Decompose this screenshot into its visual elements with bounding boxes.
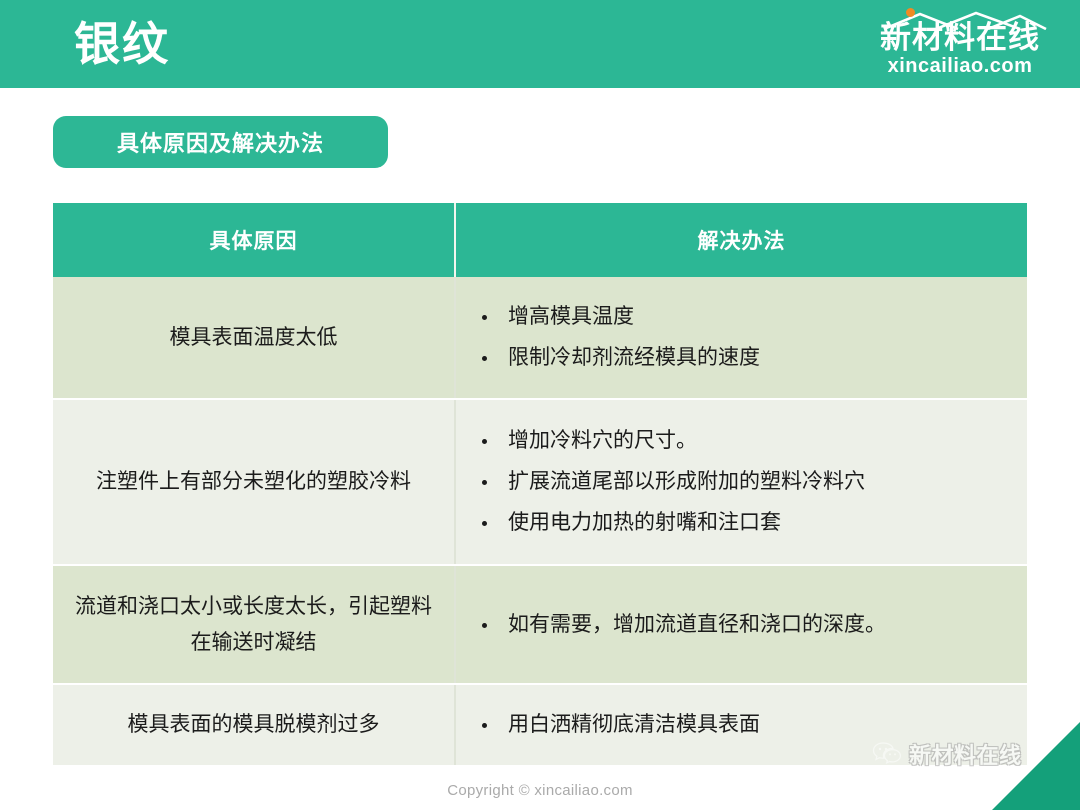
list-item: 使用电力加热的射嘴和注口套 (474, 508, 1007, 538)
list-item: 如有需要，增加流道直径和浇口的深度。 (474, 610, 1007, 640)
wechat-icon (872, 741, 902, 767)
solution-cell: 如有需要，增加流道直径和浇口的深度。 (455, 565, 1027, 684)
header-bar: 银纹 新材料在线 xincailiao.com (0, 0, 1080, 88)
solution-list: 用白洒精彻底清洁模具表面 (474, 710, 1007, 740)
solution-cell: 增加冷料穴的尺寸。 扩展流道尾部以形成附加的塑料冷料穴 使用电力加热的射嘴和注口… (455, 399, 1027, 565)
list-item: 用白洒精彻底清洁模具表面 (474, 710, 1007, 740)
logo-domain: xincailiao.com (862, 54, 1058, 78)
slide-root: 银纹 新材料在线 xincailiao.com 具体原因及解决办法 具体原因 解… (0, 0, 1080, 810)
solution-list: 增高模具温度 限制冷却剂流经模具的速度 (474, 302, 1007, 373)
solution-cell: 增高模具温度 限制冷却剂流经模具的速度 (455, 277, 1027, 399)
orange-dot-icon (906, 8, 915, 17)
column-header-cause: 具体原因 (53, 203, 455, 277)
brand-logo: 新材料在线 xincailiao.com (862, 8, 1058, 80)
table-row: 注塑件上有部分未塑化的塑胶冷料 增加冷料穴的尺寸。 扩展流道尾部以形成附加的塑料… (53, 399, 1027, 565)
copyright-text: Copyright © xincailiao.com (0, 782, 1080, 799)
causes-solutions-table: 具体原因 解决办法 模具表面温度太低 增高模具温度 限制冷却剂流经模具的速度 注… (53, 203, 1027, 767)
solution-list: 如有需要，增加流道直径和浇口的深度。 (474, 610, 1007, 640)
table-row: 模具表面温度太低 增高模具温度 限制冷却剂流经模具的速度 (53, 277, 1027, 399)
table-header-row: 具体原因 解决办法 (53, 203, 1027, 277)
section-pill: 具体原因及解决办法 (53, 116, 388, 168)
cause-cell: 模具表面温度太低 (53, 277, 455, 399)
corner-triangle-decoration (992, 722, 1080, 810)
cause-cell: 流道和浇口太小或长度太长，引起塑料在输送时凝结 (53, 565, 455, 684)
page-title: 银纹 (74, 14, 170, 74)
solution-list: 增加冷料穴的尺寸。 扩展流道尾部以形成附加的塑料冷料穴 使用电力加热的射嘴和注口… (474, 426, 1007, 538)
cause-cell: 模具表面的模具脱模剂过多 (53, 684, 455, 766)
list-item: 增加冷料穴的尺寸。 (474, 426, 1007, 456)
section-pill-label: 具体原因及解决办法 (117, 126, 324, 158)
column-header-solution: 解决办法 (455, 203, 1027, 277)
list-item: 限制冷却剂流经模具的速度 (474, 343, 1007, 373)
table-row: 流道和浇口太小或长度太长，引起塑料在输送时凝结 如有需要，增加流道直径和浇口的深… (53, 565, 1027, 684)
list-item: 增高模具温度 (474, 302, 1007, 332)
cause-cell: 注塑件上有部分未塑化的塑胶冷料 (53, 399, 455, 565)
list-item: 扩展流道尾部以形成附加的塑料冷料穴 (474, 467, 1007, 497)
logo-cn-name: 新材料在线 (862, 20, 1058, 56)
